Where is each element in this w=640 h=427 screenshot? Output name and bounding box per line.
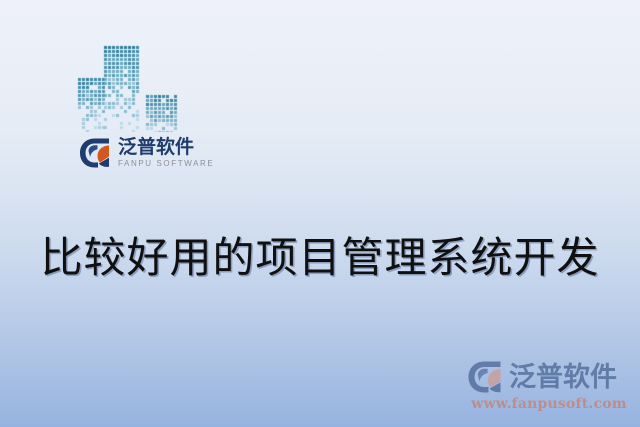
brand-logo: 泛普软件 FANPU SOFTWARE [78,131,214,175]
fanpu-logo-mark-icon [78,137,114,169]
watermark: 泛普软件 www.fanpusoft.com [466,359,632,415]
watermark-chinese-name: 泛普软件 [509,364,617,391]
brand-logo-english-name: FANPU SOFTWARE [118,160,214,168]
pixel-buildings-graphic [74,44,190,132]
watermark-logo-row: 泛普软件 [466,359,632,395]
pixel-buildings-canvas [74,44,190,132]
brand-logo-wordmark: 泛普软件 FANPU SOFTWARE [118,138,214,168]
slide-canvas: 泛普软件 FANPU SOFTWARE 比较好用的项目管理系统开发 泛普软件 w… [0,0,640,427]
watermark-url: www.fanpusoft.com [466,396,632,412]
fanpu-watermark-logo-icon [466,360,506,394]
brand-logo-chinese-name: 泛普软件 [118,138,214,157]
page-title: 比较好用的项目管理系统开发 [0,228,640,288]
